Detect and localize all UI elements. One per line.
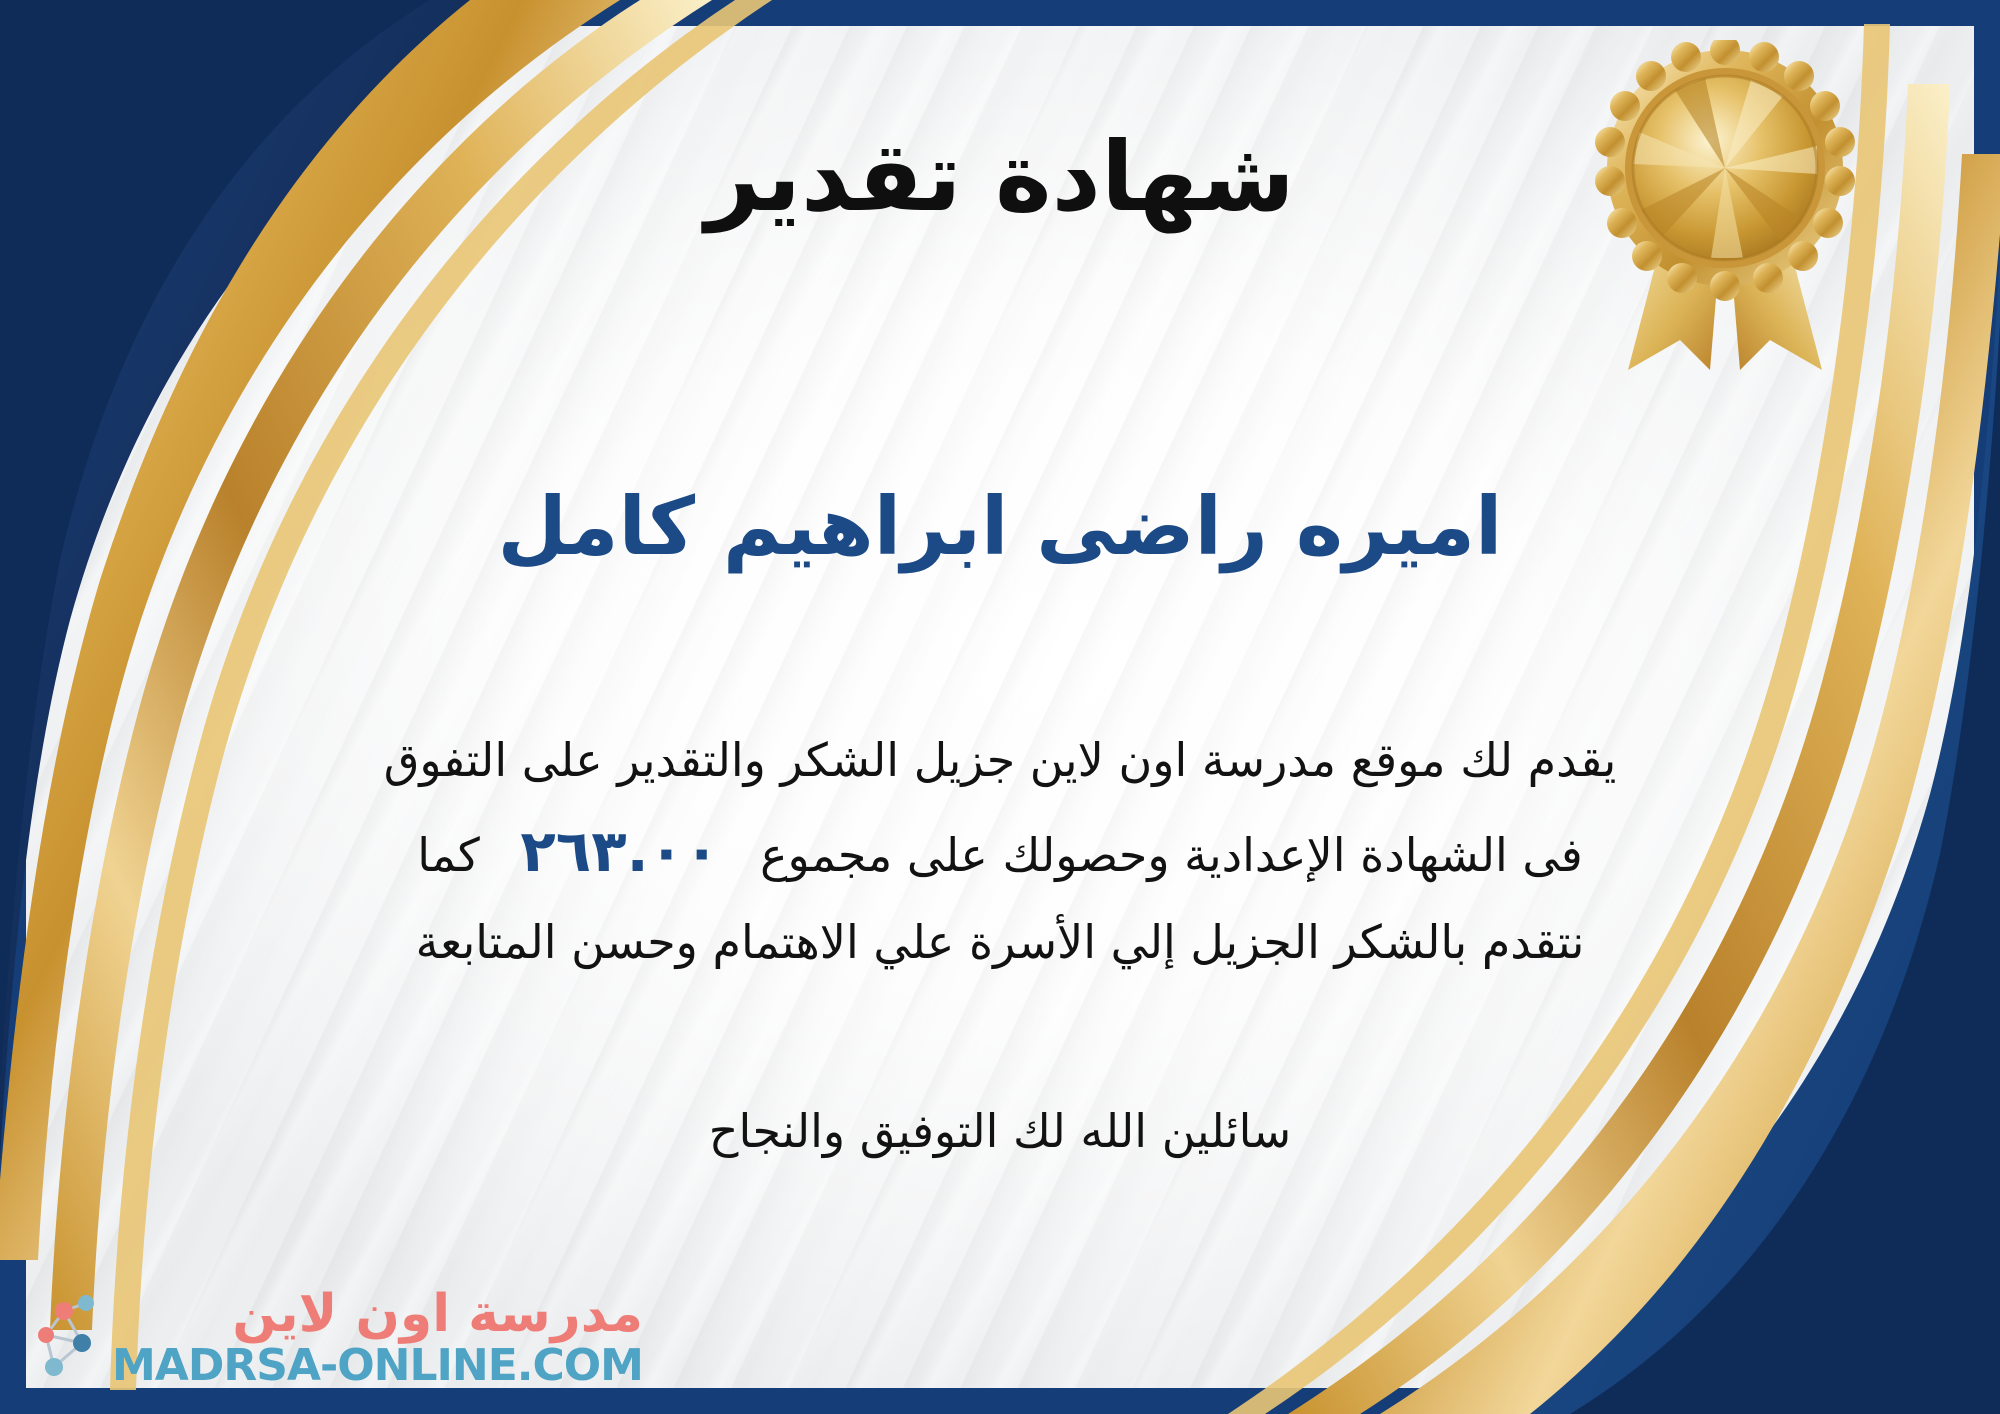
score-value: ٢٦٣.٠٠ (494, 801, 745, 903)
recipient-name: اميره راضى ابراهيم كامل (0, 480, 2000, 574)
certificate-page: شهادة تقدير اميره راضى ابراهيم كامل يقدم… (0, 0, 2000, 1414)
brand-text-group: مدرسة اون لاين MADRSA-ONLINE.COM (112, 1287, 643, 1390)
network-nodes-icon (24, 1291, 102, 1387)
brand-website: MADRSA-ONLINE.COM (112, 1342, 643, 1390)
gold-award-medal-icon (1570, 40, 1880, 380)
certificate-body: يقدم لك موقع مدرسة اون لاين جزيل الشكر و… (170, 720, 1830, 983)
body-line-2-suffix: كما (417, 828, 480, 882)
body-line-3: نتقدم بالشكر الجزيل إلي الأسرة علي الاهت… (170, 902, 1830, 983)
brand-logo[interactable]: مدرسة اون لاين MADRSA-ONLINE.COM (24, 1287, 643, 1390)
body-line-2-prefix: فى الشهادة الإعدادية وحصولك على مجموع (760, 828, 1583, 882)
body-line-2: فى الشهادة الإعدادية وحصولك على مجموع ٢٦… (170, 801, 1830, 903)
body-line-1: يقدم لك موقع مدرسة اون لاين جزيل الشكر و… (170, 720, 1830, 801)
brand-arabic-name: مدرسة اون لاين (112, 1287, 643, 1342)
closing-line: سائلين الله لك التوفيق والنجاح (0, 1095, 2000, 1169)
